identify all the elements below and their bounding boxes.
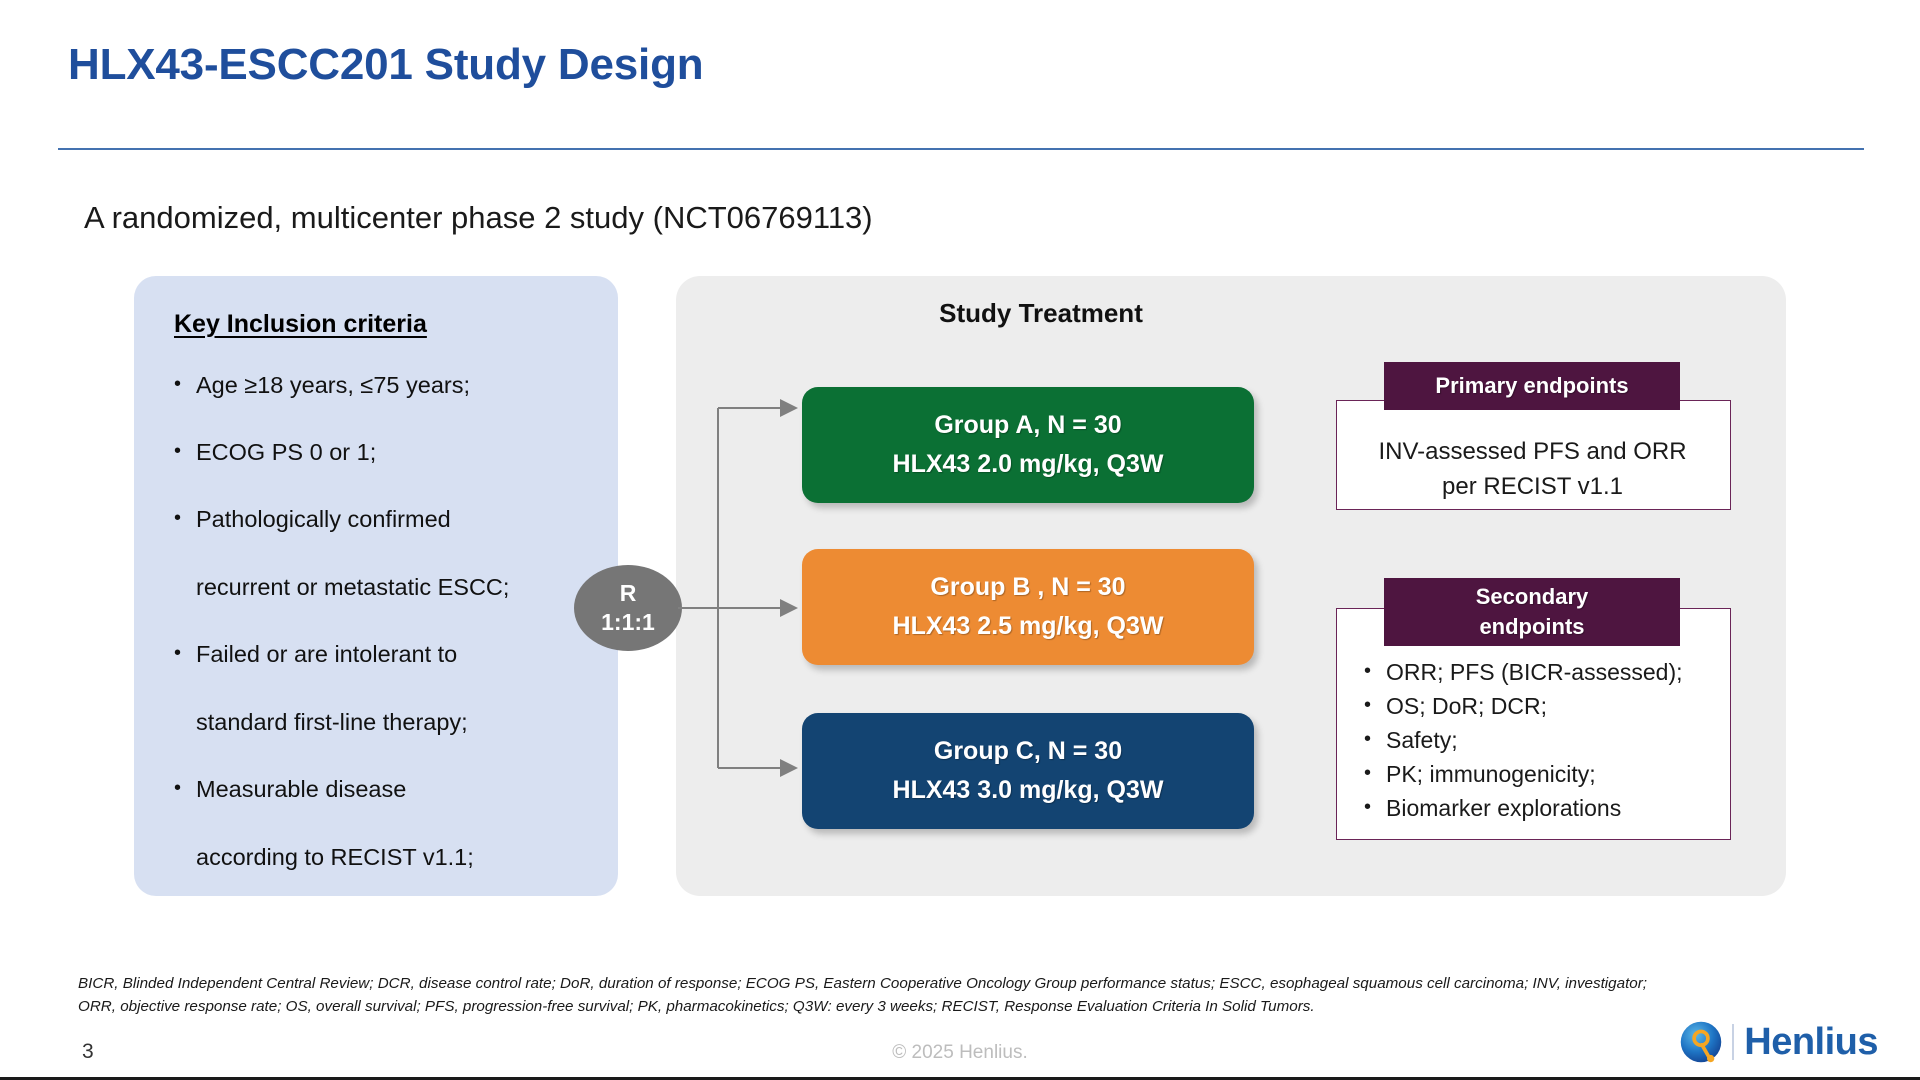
copyright-notice: © 2025 Henlius.	[0, 1042, 1920, 1064]
footnote-line-1: BICR, Blinded Independent Central Review…	[78, 972, 1858, 995]
randomization-node: R 1:1:1	[574, 565, 682, 651]
inclusion-criteria-heading: Key Inclusion criteria	[174, 310, 427, 339]
inclusion-item-line1: Pathologically confirmed	[196, 506, 451, 532]
henlius-logo: Henlius	[1678, 1016, 1878, 1068]
list-item: Biomarker explorations	[1358, 791, 1730, 825]
inclusion-criteria-list: Age ≥18 years, ≤75 years; ECOG PS 0 or 1…	[168, 368, 598, 907]
study-treatment-heading: Study Treatment	[676, 298, 1406, 329]
randomization-ratio: 1:1:1	[601, 608, 655, 637]
inclusion-item-line2: according to RECIST v1.1;	[196, 840, 598, 874]
group-b-title: Group B , N = 30	[930, 568, 1125, 607]
footnote-line-2: ORR, objective response rate; OS, overal…	[78, 995, 1858, 1018]
list-item: Pathologically confirmed recurrent or me…	[168, 502, 598, 604]
inclusion-criteria-panel: Key Inclusion criteria Age ≥18 years, ≤7…	[134, 276, 618, 896]
inclusion-item-line2: standard first-line therapy;	[196, 705, 598, 739]
inclusion-item-line1: Age ≥18 years, ≤75 years;	[196, 372, 470, 398]
list-item: Safety;	[1358, 723, 1730, 757]
page-title: HLX43-ESCC201 Study Design	[68, 40, 703, 90]
group-b-dose: HLX43 2.5 mg/kg, Q3W	[893, 607, 1164, 646]
secondary-endpoints-banner: Secondary endpoints	[1384, 578, 1680, 646]
inclusion-item-line1: Measurable disease	[196, 776, 406, 802]
secondary-endpoints-list: ORR; PFS (BICR-assessed); OS; DoR; DCR; …	[1358, 655, 1730, 825]
list-item: PK; immunogenicity;	[1358, 757, 1730, 791]
inclusion-item-line1: ECOG PS 0 or 1;	[196, 439, 376, 465]
henlius-logo-icon	[1678, 1019, 1724, 1065]
primary-endpoints-banner: Primary endpoints	[1384, 362, 1680, 410]
treatment-arm-group-b: Group B , N = 30 HLX43 2.5 mg/kg, Q3W	[802, 549, 1254, 665]
randomization-connectors	[670, 380, 800, 860]
abbreviations-footnote: BICR, Blinded Independent Central Review…	[78, 972, 1858, 1018]
list-item: Measurable disease according to RECIST v…	[168, 772, 598, 874]
study-subtitle: A randomized, multicenter phase 2 study …	[84, 200, 873, 236]
group-c-title: Group C, N = 30	[934, 732, 1122, 771]
treatment-arm-group-a: Group A, N = 30 HLX43 2.0 mg/kg, Q3W	[802, 387, 1254, 503]
list-item: ORR; PFS (BICR-assessed);	[1358, 655, 1730, 689]
inclusion-item-line1: Failed or are intolerant to	[196, 641, 457, 667]
list-item: Age ≥18 years, ≤75 years;	[168, 368, 598, 402]
title-divider	[58, 148, 1864, 150]
list-item: OS; DoR; DCR;	[1358, 689, 1730, 723]
group-c-dose: HLX43 3.0 mg/kg, Q3W	[893, 771, 1164, 810]
treatment-arm-group-c: Group C, N = 30 HLX43 3.0 mg/kg, Q3W	[802, 713, 1254, 829]
primary-endpoints-text: INV-assessed PFS and ORR per RECIST v1.1	[1336, 434, 1729, 504]
logo-divider	[1732, 1024, 1734, 1060]
primary-endpoints-line2: per RECIST v1.1	[1336, 469, 1729, 504]
secondary-endpoints-banner-line1: Secondary	[1476, 582, 1589, 612]
list-item: ECOG PS 0 or 1;	[168, 435, 598, 469]
randomization-label: R	[620, 579, 637, 608]
inclusion-item-line2: recurrent or metastatic ESCC;	[196, 570, 598, 604]
primary-endpoints-line1: INV-assessed PFS and ORR	[1336, 434, 1729, 469]
list-item: Failed or are intolerant to standard fir…	[168, 637, 598, 739]
secondary-endpoints-banner-line2: endpoints	[1476, 612, 1589, 642]
henlius-wordmark: Henlius	[1744, 1021, 1878, 1064]
group-a-dose: HLX43 2.0 mg/kg, Q3W	[893, 445, 1164, 484]
group-a-title: Group A, N = 30	[934, 406, 1121, 445]
